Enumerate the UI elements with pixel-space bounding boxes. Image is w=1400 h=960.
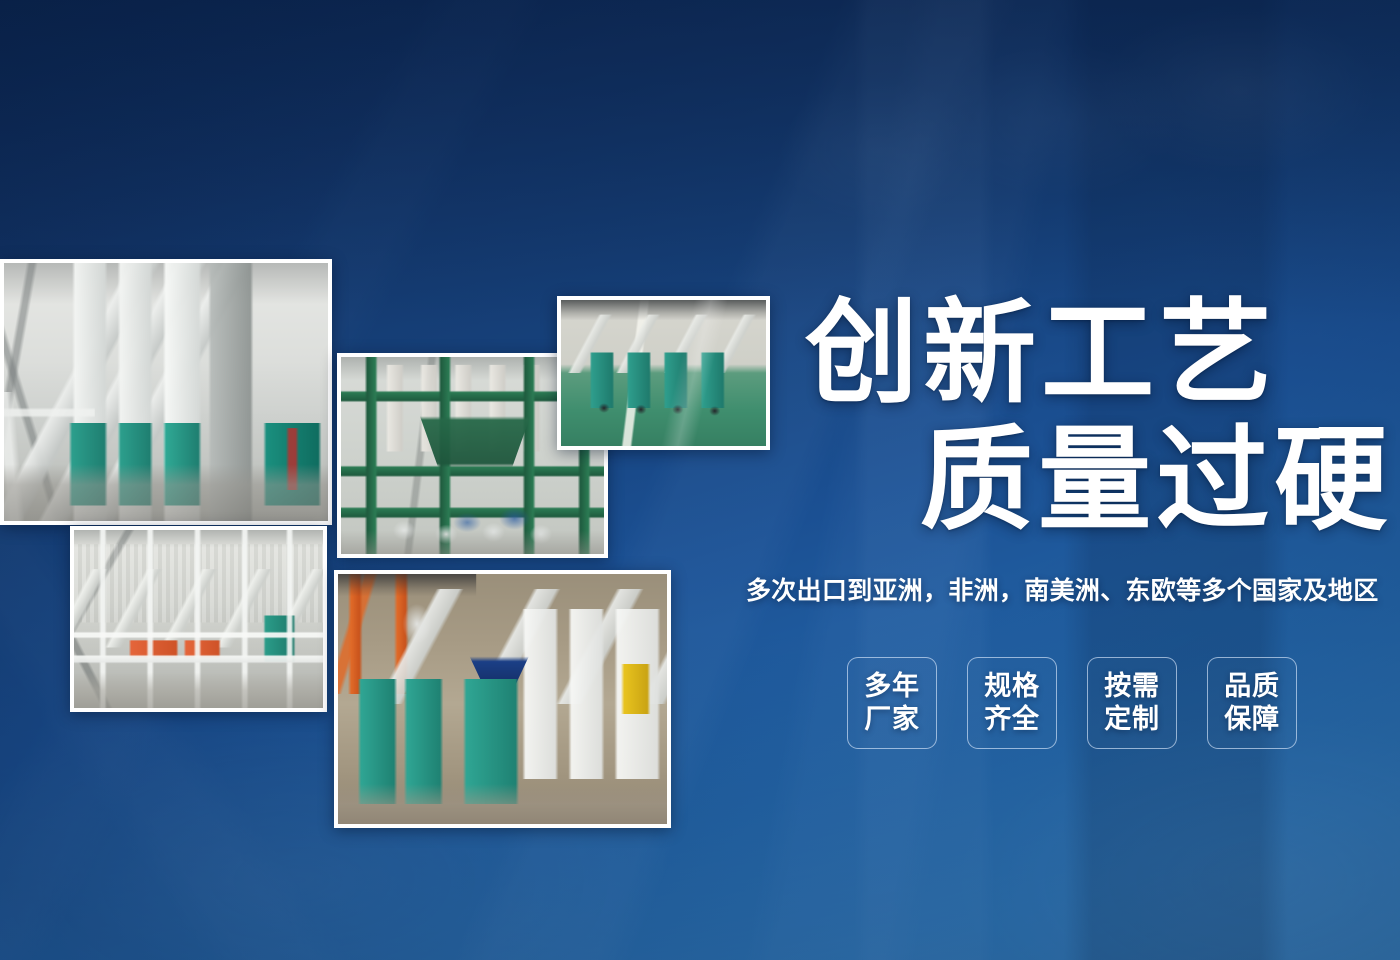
photo-teal-mills-green-floor (557, 296, 770, 450)
badge-quality-guarantee[interactable]: 品质 保障 (1207, 657, 1297, 749)
headline-line-2: 质量过硬 (920, 424, 1392, 537)
promo-banner: 创新工艺 质量过硬 多次出口到亚洲，非洲，南美洲、东欧等多个国家及地区 多年 厂… (0, 0, 1400, 960)
photo-milling-line-white-teal (0, 259, 332, 525)
badge-line-2: 厂家 (864, 703, 920, 736)
badge-line-1: 多年 (864, 670, 920, 703)
photo-teal-mill-orange-beams (334, 570, 671, 828)
badge-line-1: 规格 (984, 670, 1040, 703)
badge-line-1: 品质 (1224, 670, 1280, 703)
badge-full-specifications[interactable]: 规格 齐全 (967, 657, 1057, 749)
badge-line-2: 齐全 (984, 703, 1040, 736)
badge-many-years-manufacturer[interactable]: 多年 厂家 (847, 657, 937, 749)
badge-line-2: 定制 (1104, 703, 1160, 736)
photo-platform-line-orange (70, 526, 327, 712)
headline-line-1: 创新工艺 (805, 297, 1277, 410)
badge-line-2: 保障 (1224, 703, 1280, 736)
badge-line-1: 按需 (1104, 670, 1160, 703)
badge-custom-on-demand[interactable]: 按需 定制 (1087, 657, 1177, 749)
banner-subtitle: 多次出口到亚洲，非洲，南美洲、东欧等多个国家及地区 (746, 571, 1396, 607)
feature-badge-group: 多年 厂家 规格 齐全 按需 定制 品质 保障 (847, 657, 1297, 749)
